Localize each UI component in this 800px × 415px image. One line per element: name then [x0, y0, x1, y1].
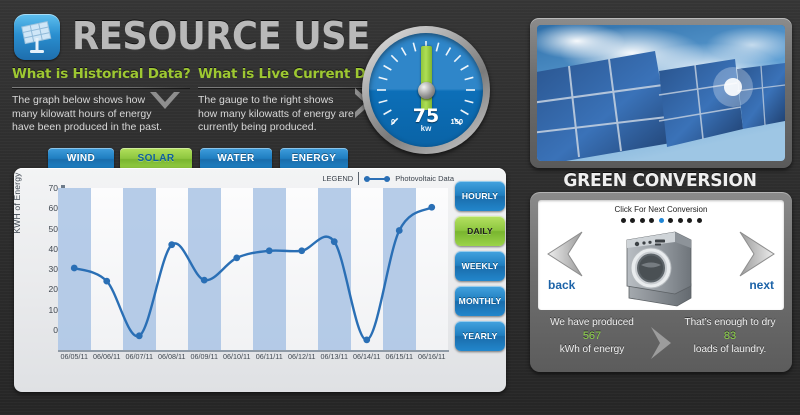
y-axis-tick: 50 [20, 225, 58, 233]
period-daily-button[interactable]: DAILY [455, 216, 505, 246]
period-buttons: HOURLY DAILY WEEKLY MONTHLY YEARLY [455, 181, 505, 356]
dot[interactable] [621, 218, 626, 223]
button-label: MONTHLY [459, 296, 502, 306]
dot[interactable] [640, 218, 645, 223]
chart-data-point[interactable] [396, 227, 403, 234]
gauge-unit: kw [369, 124, 483, 133]
y-axis-tick: 0 [20, 326, 58, 334]
resource-use-dashboard: RESOURCE USE What is Historical Data? Th… [0, 0, 800, 415]
tab-label: WIND [67, 153, 95, 164]
y-axis-tick: 30 [20, 265, 58, 273]
chart-plot-area [58, 188, 448, 350]
tab-wind[interactable]: WIND [48, 148, 114, 170]
conversion-right-text: That’s enough to dry 83 loads of laundry… [674, 316, 786, 357]
y-axis-label: KWH of Energy [12, 158, 22, 248]
tab-solar[interactable]: SOLAR [120, 148, 192, 170]
chart-data-point[interactable] [103, 278, 110, 285]
button-label: YEARLY [463, 331, 498, 341]
conversion-hint: Click For Next Conversion [538, 205, 784, 214]
dot-active[interactable] [659, 218, 664, 223]
legend-divider [358, 172, 359, 185]
y-axis-tick: 10 [20, 306, 58, 314]
dot[interactable] [697, 218, 702, 223]
x-axis: 06/05/1106/06/1106/07/1106/08/1106/09/11… [58, 352, 448, 366]
chart-data-point[interactable] [428, 204, 435, 211]
button-label: HOURLY [462, 191, 498, 201]
chevron-down-icon [150, 92, 180, 115]
next-label[interactable]: next [749, 278, 774, 292]
info-heading: What is Live Current Data? [198, 66, 384, 82]
y-axis-tick: 70 [20, 184, 58, 192]
info-heading: What is Historical Data? [12, 66, 190, 82]
conversion-right-value: 83 [674, 330, 786, 344]
tab-label: WATER [217, 153, 254, 164]
next-arrow-icon[interactable] [738, 230, 778, 278]
conversion-left-bottom: kWh of energy [536, 343, 648, 357]
chart-data-point[interactable] [168, 241, 175, 248]
conversion-right-top: That’s enough to dry [674, 316, 786, 330]
chart-panel: LEGEND Photovoltaic Data KWH of Energy 7… [14, 168, 506, 392]
conversion-left-text: We have produced 567 kWh of energy [536, 316, 648, 357]
dot[interactable] [687, 218, 692, 223]
right-column: GREEN CONVERSION CENTER Click For Next C… [520, 0, 800, 415]
conversion-left-top: We have produced [536, 316, 648, 330]
info-line: currently being produced. [198, 121, 384, 135]
photo-card [530, 18, 792, 168]
tab-label: ENERGY [292, 153, 337, 164]
chart-data-point[interactable] [298, 247, 305, 254]
y-axis-tick: 40 [20, 245, 58, 253]
info-line: have been produced in the past. [12, 121, 190, 135]
button-label: DAILY [467, 226, 493, 236]
period-weekly-button[interactable]: WEEKLY [455, 251, 505, 281]
dot[interactable] [649, 218, 654, 223]
chart-data-point[interactable] [233, 254, 240, 261]
tab-energy[interactable]: ENERGY [280, 148, 348, 170]
chart-data-point[interactable] [331, 238, 338, 245]
conversion-stage[interactable]: Click For Next Conversion [538, 200, 784, 310]
back-label[interactable]: back [548, 278, 575, 292]
washing-machine-icon [619, 224, 703, 308]
gauge-face: 0 150 75 kw [369, 33, 483, 147]
period-monthly-button[interactable]: MONTHLY [455, 286, 505, 316]
conversion-card: Click For Next Conversion [530, 192, 792, 372]
chart-data-point[interactable] [71, 265, 78, 272]
chart-legend: LEGEND Photovoltaic Data [322, 172, 454, 185]
period-yearly-button[interactable]: YEARLY [455, 321, 505, 351]
tab-water[interactable]: WATER [200, 148, 272, 170]
left-column: RESOURCE USE What is Historical Data? Th… [0, 0, 520, 415]
conversion-right-bottom: loads of laundry. [674, 343, 786, 357]
chart-data-point[interactable] [266, 247, 273, 254]
conversion-arrow-icon [649, 326, 673, 365]
y-axis-tick: 60 [20, 204, 58, 212]
solar-panel-array-photo [537, 25, 785, 161]
chart-series-photovoltaic [58, 188, 448, 350]
conversion-dots [538, 218, 784, 223]
solar-panel-icon [14, 14, 60, 60]
dot[interactable] [630, 218, 635, 223]
live-power-gauge: 0 150 75 kw [362, 26, 490, 154]
back-arrow-icon[interactable] [544, 230, 584, 278]
gauge-hub [418, 82, 435, 99]
tab-label: SOLAR [138, 153, 175, 164]
gauge-needle [421, 46, 432, 110]
legend-swatch [364, 175, 390, 183]
conversion-left-value: 567 [536, 330, 648, 344]
legend-label: LEGEND [322, 174, 353, 183]
y-axis-tick: 20 [20, 285, 58, 293]
chart-data-point[interactable] [201, 277, 208, 284]
legend-series-name: Photovoltaic Data [395, 174, 454, 183]
button-label: WEEKLY [462, 261, 499, 271]
divider [12, 87, 190, 88]
dot[interactable] [668, 218, 673, 223]
dot[interactable] [678, 218, 683, 223]
chart-data-point[interactable] [363, 336, 370, 343]
page-title: RESOURCE USE [72, 14, 370, 58]
x-axis-tick: 06/16/11 [412, 352, 452, 361]
chart-data-point[interactable] [136, 332, 143, 339]
y-axis: KWH of Energy 706050403020100 [14, 188, 58, 350]
period-hourly-button[interactable]: HOURLY [455, 181, 505, 211]
